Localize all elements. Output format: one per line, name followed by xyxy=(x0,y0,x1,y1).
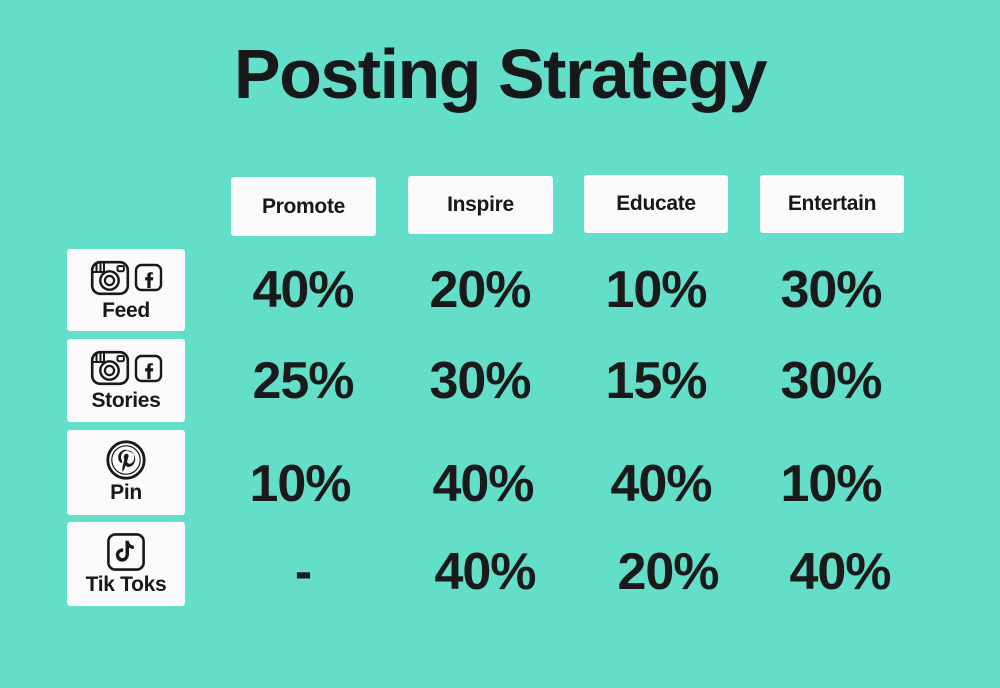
cell-tiktoks-inspire: 40% xyxy=(385,543,585,601)
row-label-feed: Feed xyxy=(67,249,185,331)
cell-stories-entertain: 30% xyxy=(731,352,931,410)
cell-feed-inspire: 20% xyxy=(380,261,580,319)
row-icon-group xyxy=(105,440,147,480)
column-header-row: Promote Inspire Educate Entertain xyxy=(0,0,1000,240)
column-header-promote: Promote xyxy=(231,177,376,236)
row-label-text: Stories xyxy=(91,389,160,413)
cell-feed-entertain: 30% xyxy=(731,261,931,319)
cell-tiktoks-educate: 20% xyxy=(568,543,768,601)
tiktok-icon xyxy=(106,532,146,572)
row-label-tiktoks: Tik Toks xyxy=(67,522,185,606)
facebook-icon xyxy=(134,263,163,292)
cell-feed-educate: 10% xyxy=(556,261,756,319)
row-icon-group xyxy=(106,532,146,572)
cell-pin-entertain: 10% xyxy=(731,455,931,513)
column-header-label: Entertain xyxy=(788,192,876,216)
pinterest-icon xyxy=(105,439,147,481)
row-label-pin: Pin xyxy=(67,430,185,515)
column-header-inspire: Inspire xyxy=(408,176,553,234)
column-header-entertain: Entertain xyxy=(760,175,904,233)
row-label-text: Tik Toks xyxy=(86,573,167,597)
column-header-label: Educate xyxy=(616,192,696,216)
cell-pin-promote: 10% xyxy=(200,455,400,513)
column-header-educate: Educate xyxy=(584,175,728,233)
cell-feed-promote: 40% xyxy=(203,261,403,319)
cell-stories-promote: 25% xyxy=(203,352,403,410)
cell-pin-inspire: 40% xyxy=(383,455,583,513)
instagram-icon xyxy=(90,350,130,386)
row-icon-group xyxy=(90,348,163,388)
column-header-label: Promote xyxy=(262,195,345,219)
row-label-text: Pin xyxy=(110,481,142,505)
row-label-stories: Stories xyxy=(67,339,185,422)
facebook-icon xyxy=(134,354,163,383)
row-label-text: Feed xyxy=(102,299,150,323)
row-icon-group xyxy=(90,258,163,298)
cell-stories-inspire: 30% xyxy=(380,352,580,410)
column-header-label: Inspire xyxy=(447,193,514,217)
cell-tiktoks-promote: - xyxy=(203,543,403,601)
cell-stories-educate: 15% xyxy=(556,352,756,410)
cell-tiktoks-entertain: 40% xyxy=(740,543,940,601)
instagram-icon xyxy=(90,260,130,296)
